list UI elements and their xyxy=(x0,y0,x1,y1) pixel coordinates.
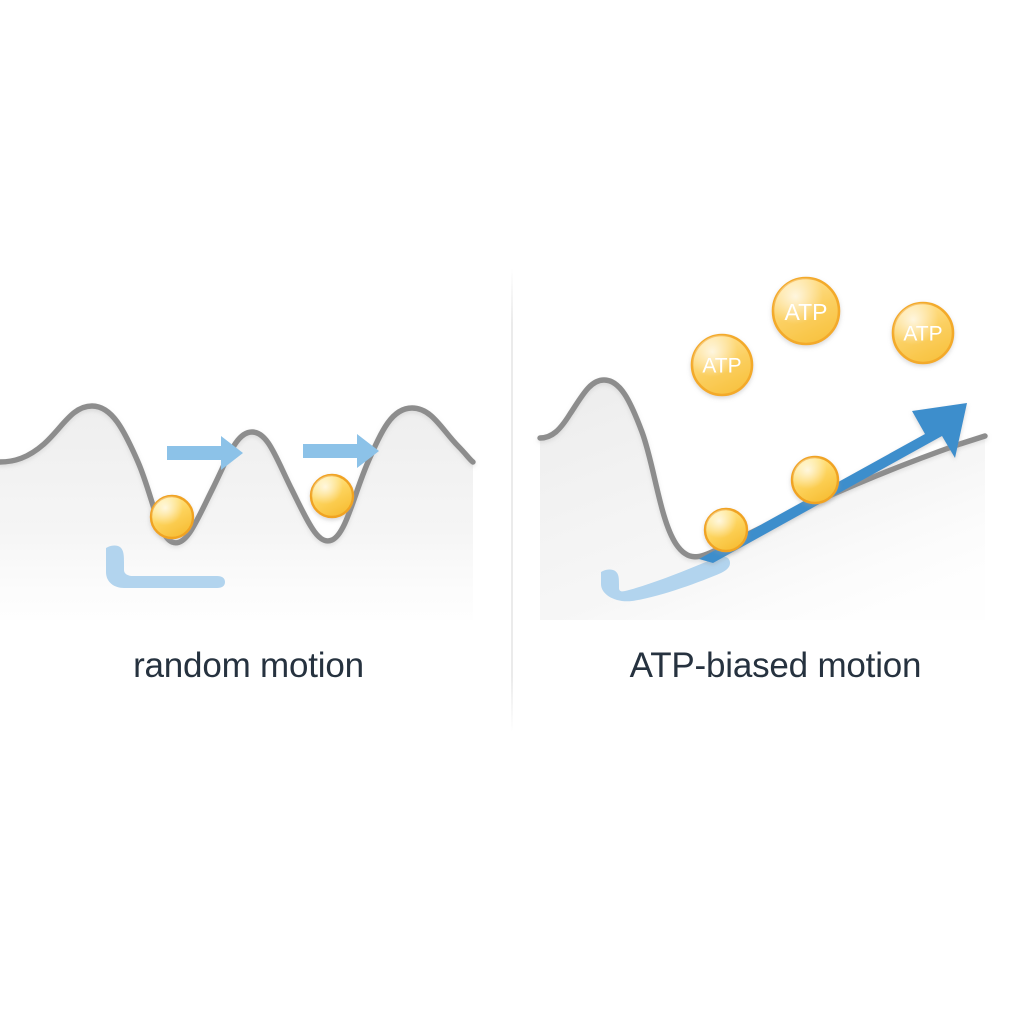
atp-bubble-1: ATP xyxy=(692,335,752,395)
panel-left-random-motion xyxy=(0,406,475,620)
panel-divider xyxy=(511,268,513,732)
atp-bubble-2: ATP xyxy=(773,278,839,344)
atp-label: ATP xyxy=(784,299,827,325)
motor-motion-figure: ATP ATP ATP xyxy=(0,0,1024,1024)
panel-right-atp-biased-motion: ATP ATP ATP xyxy=(540,278,985,620)
panel-label-atp-biased-motion: ATP-biased motion xyxy=(527,646,1024,686)
atp-bubble-3: ATP xyxy=(893,303,953,363)
right-bead-2 xyxy=(792,457,838,503)
right-bead-1 xyxy=(705,509,747,551)
bead-highlight xyxy=(311,475,353,517)
panel-label-random-motion: random motion xyxy=(0,646,497,686)
left-bead-2 xyxy=(311,475,353,517)
bead-highlight xyxy=(151,496,193,538)
atp-label: ATP xyxy=(903,323,942,346)
bead-highlight xyxy=(792,457,838,503)
left-bead-1 xyxy=(151,496,193,538)
bead-highlight xyxy=(705,509,747,551)
atp-label: ATP xyxy=(702,355,741,378)
